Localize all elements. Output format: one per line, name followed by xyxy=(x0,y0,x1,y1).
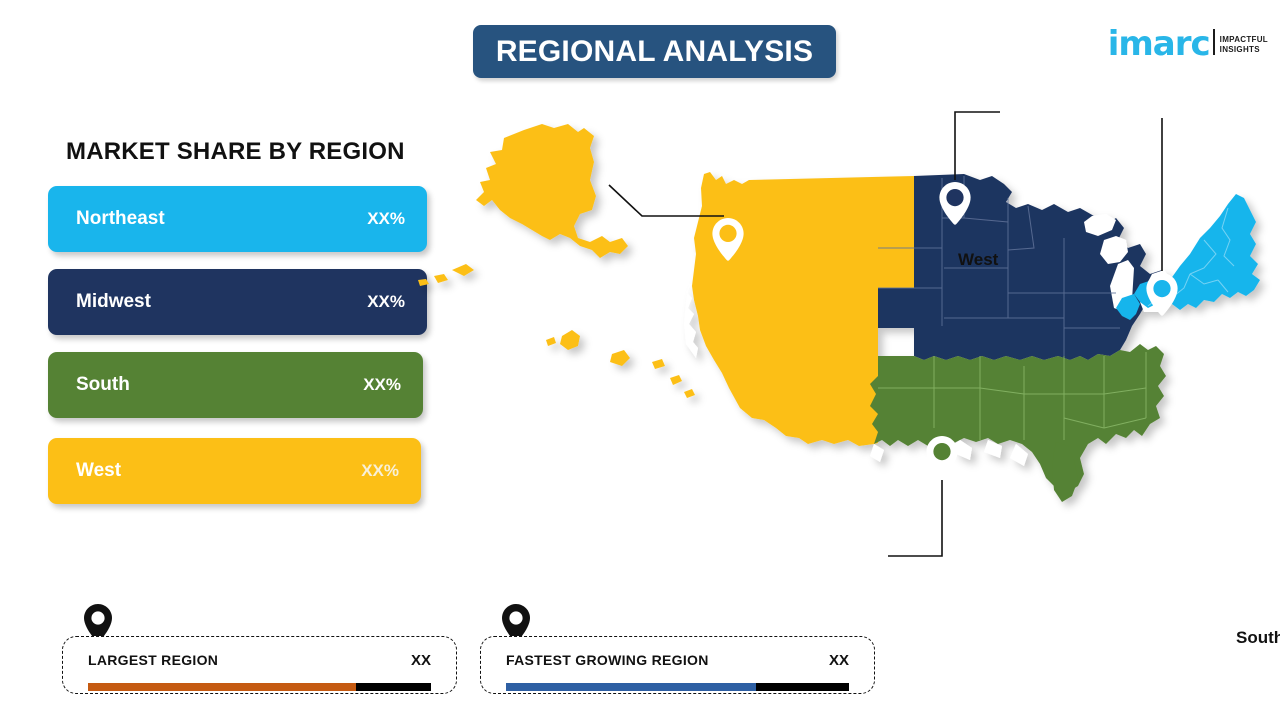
page-title: REGIONAL ANALYSIS xyxy=(496,35,813,69)
region-bar-label: Northeast xyxy=(76,208,165,230)
region-bar-value: XX% xyxy=(361,461,399,481)
largest-region-row: LARGEST REGION XX xyxy=(88,652,431,669)
largest-region-progress-track xyxy=(88,683,431,691)
fastest-growing-region-progress-track xyxy=(506,683,849,691)
region-bar-midwest[interactable]: Midwest XX% xyxy=(48,269,427,335)
market-share-heading: MARKET SHARE BY REGION xyxy=(66,138,405,166)
map-region-west xyxy=(418,124,914,446)
map-label-south: South xyxy=(1236,628,1280,648)
region-bar-label: West xyxy=(76,460,121,482)
logo-tagline-line2: INSIGHTS xyxy=(1220,45,1268,55)
region-bar-northeast[interactable]: Northeast XX% xyxy=(48,186,427,252)
region-bar-value: XX% xyxy=(367,209,405,229)
largest-region-caption: LARGEST REGION xyxy=(88,652,218,668)
fastest-growing-region-callout: FASTEST GROWING REGION XX xyxy=(480,636,875,694)
largest-region-value: XX xyxy=(411,652,431,669)
region-bar-value: XX% xyxy=(363,375,401,395)
leader-line-midwest xyxy=(955,112,1000,180)
largest-region-progress-fill xyxy=(88,683,356,691)
leader-line-south xyxy=(888,480,942,556)
map-label-west: West xyxy=(958,250,998,270)
fastest-growing-region-row: FASTEST GROWING REGION XX xyxy=(506,652,849,669)
us-regional-map: West Midwest Northeast South xyxy=(404,88,1280,588)
region-bar-south[interactable]: South XX% xyxy=(48,352,423,418)
page-title-banner: REGIONAL ANALYSIS xyxy=(473,25,836,78)
map-pin-south xyxy=(926,436,957,479)
slide-canvas: REGIONAL ANALYSIS imarc IMPACTFUL INSIGH… xyxy=(0,0,1280,720)
region-bar-value: XX% xyxy=(367,292,405,312)
region-bar-label: South xyxy=(76,374,130,396)
imarc-logo: imarc IMPACTFUL INSIGHTS xyxy=(1108,14,1268,58)
largest-region-callout: LARGEST REGION XX xyxy=(62,636,457,694)
region-bar-west[interactable]: West XX% xyxy=(48,438,421,504)
map-region-south xyxy=(870,344,1166,502)
logo-divider xyxy=(1213,29,1215,55)
fastest-growing-region-caption: FASTEST GROWING REGION xyxy=(506,652,709,668)
fastest-growing-region-value: XX xyxy=(829,652,849,669)
map-region-midwest xyxy=(878,174,1170,360)
fastest-growing-region-progress-fill xyxy=(506,683,756,691)
logo-wordmark: imarc xyxy=(1108,30,1210,58)
logo-tagline-line1: IMPACTFUL xyxy=(1220,35,1268,45)
logo-tagline: IMPACTFUL INSIGHTS xyxy=(1220,35,1268,55)
region-bar-label: Midwest xyxy=(76,291,151,313)
